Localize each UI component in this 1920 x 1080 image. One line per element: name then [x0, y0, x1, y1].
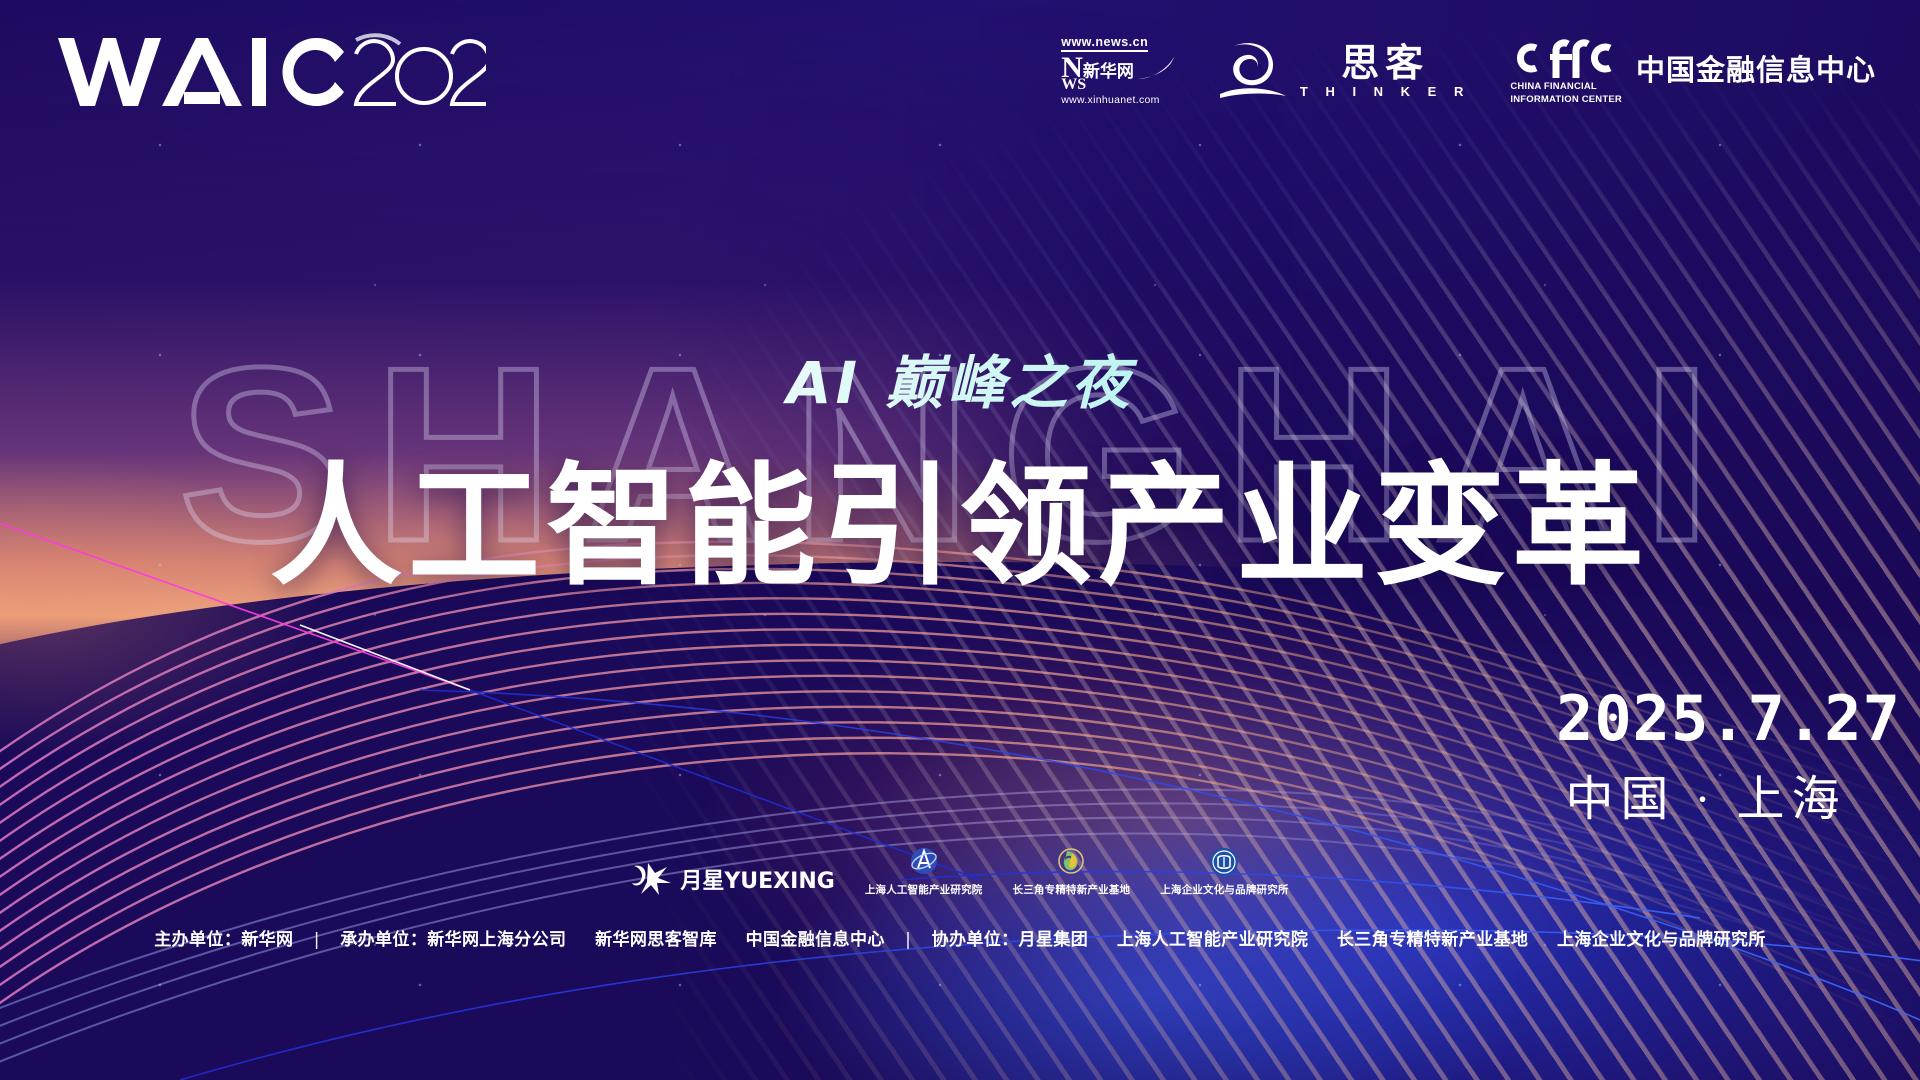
partner-logo-yrd-base: 长三角专精特新产业基地 — [1013, 846, 1131, 897]
event-date-location: 2025.7.27 中国 · 上海 — [1556, 688, 1856, 824]
partner-label-yrd-base: 长三角专精特新产业基地 — [1013, 882, 1131, 897]
thinker-en-name: T H I N K E R — [1300, 85, 1470, 98]
host-label: 主办单位：新华网 — [154, 930, 293, 950]
partner-label-yuexing: 月星YUEXING — [680, 863, 834, 895]
waic-logo — [56, 32, 486, 110]
event-location: 中国 · 上海 — [1556, 776, 1856, 824]
partner-logo-saiir: 上海人工智能产业研究院 — [865, 846, 983, 897]
partner-label-secbi: 上海企业文化与品牌研究所 — [1160, 882, 1288, 897]
organiser-2: 新华网思客智库 — [595, 930, 717, 950]
credit-separator-2: | — [891, 930, 925, 950]
xinhua-ws-sub: WS — [1061, 77, 1086, 93]
partner-label-saiir: 上海人工智能产业研究院 — [865, 882, 983, 897]
coorganiser-label: 协办单位：月星集团 — [932, 930, 1089, 950]
secbi-seal-icon — [1208, 846, 1240, 878]
partner-logo-secbi: 上海企业文化与品牌研究所 — [1160, 846, 1288, 897]
partner-logo-strip: 月星YUEXING 上海人工智能产业研究院 长三角专精特新产业基地 — [0, 846, 1920, 897]
cfic-en-line2: INFORMATION CENTER — [1510, 95, 1622, 106]
cfic-en-line1: CHINA FINANCIAL — [1510, 82, 1622, 93]
partner-cfic: CHINA FINANCIAL INFORMATION CENTER 中国金融信… — [1510, 36, 1876, 105]
event-date: 2025.7.27 — [1556, 688, 1856, 750]
partner-thinker: 思客 T H I N K E R — [1216, 38, 1470, 104]
thinker-cn-name: 思客 — [1341, 44, 1429, 82]
xinhua-url-bottom: www.xinhuanet.com — [1061, 95, 1159, 106]
credit-separator-1: | — [300, 930, 334, 950]
coorganiser-2: 上海人工智能产业研究院 — [1117, 930, 1308, 950]
coorganiser-4: 上海企业文化与品牌研究所 — [1557, 930, 1766, 950]
event-main-title: 人工智能引领产业变革 — [0, 420, 1920, 611]
yrd-base-icon — [1055, 846, 1087, 878]
xinhua-url-top: www.news.cn — [1061, 36, 1148, 52]
waic-2025-wordmark-icon — [56, 32, 486, 110]
organiser-credits-line: 主办单位：新华网 | 承办单位：新华网上海分公司 新华网思客智库 中国金融信息中… — [0, 925, 1920, 950]
xinhua-swoosh-icon — [1136, 55, 1176, 81]
thinker-wave-icon — [1216, 38, 1290, 104]
partner-xinhua-news: www.news.cn N 新华网 WS www.xinhuanet.com — [1061, 36, 1176, 105]
header-partner-logos: www.news.cn N 新华网 WS www.xinhuanet.com — [1061, 36, 1876, 105]
cfic-cn-name: 中国金融信息中心 — [1636, 56, 1876, 85]
event-poster: SHANGHAI — [0, 0, 1920, 1080]
organiser-label: 承办单位：新华网上海分公司 — [340, 930, 566, 950]
partner-logo-yuexing: 月星YUEXING — [631, 861, 834, 897]
xinhua-cn-name: 新华网 — [1083, 64, 1134, 81]
cfic-mark-icon — [1510, 36, 1614, 80]
event-subtitle: AI 巅峰之夜 — [0, 336, 1920, 420]
yuexing-star-icon — [631, 861, 673, 897]
poster-header: www.news.cn N 新华网 WS www.xinhuanet.com — [0, 0, 1920, 140]
coorganiser-3: 长三角专精特新产业基地 — [1337, 930, 1528, 950]
organiser-3: 中国金融信息中心 — [746, 930, 885, 950]
saiir-globe-icon — [908, 846, 940, 878]
